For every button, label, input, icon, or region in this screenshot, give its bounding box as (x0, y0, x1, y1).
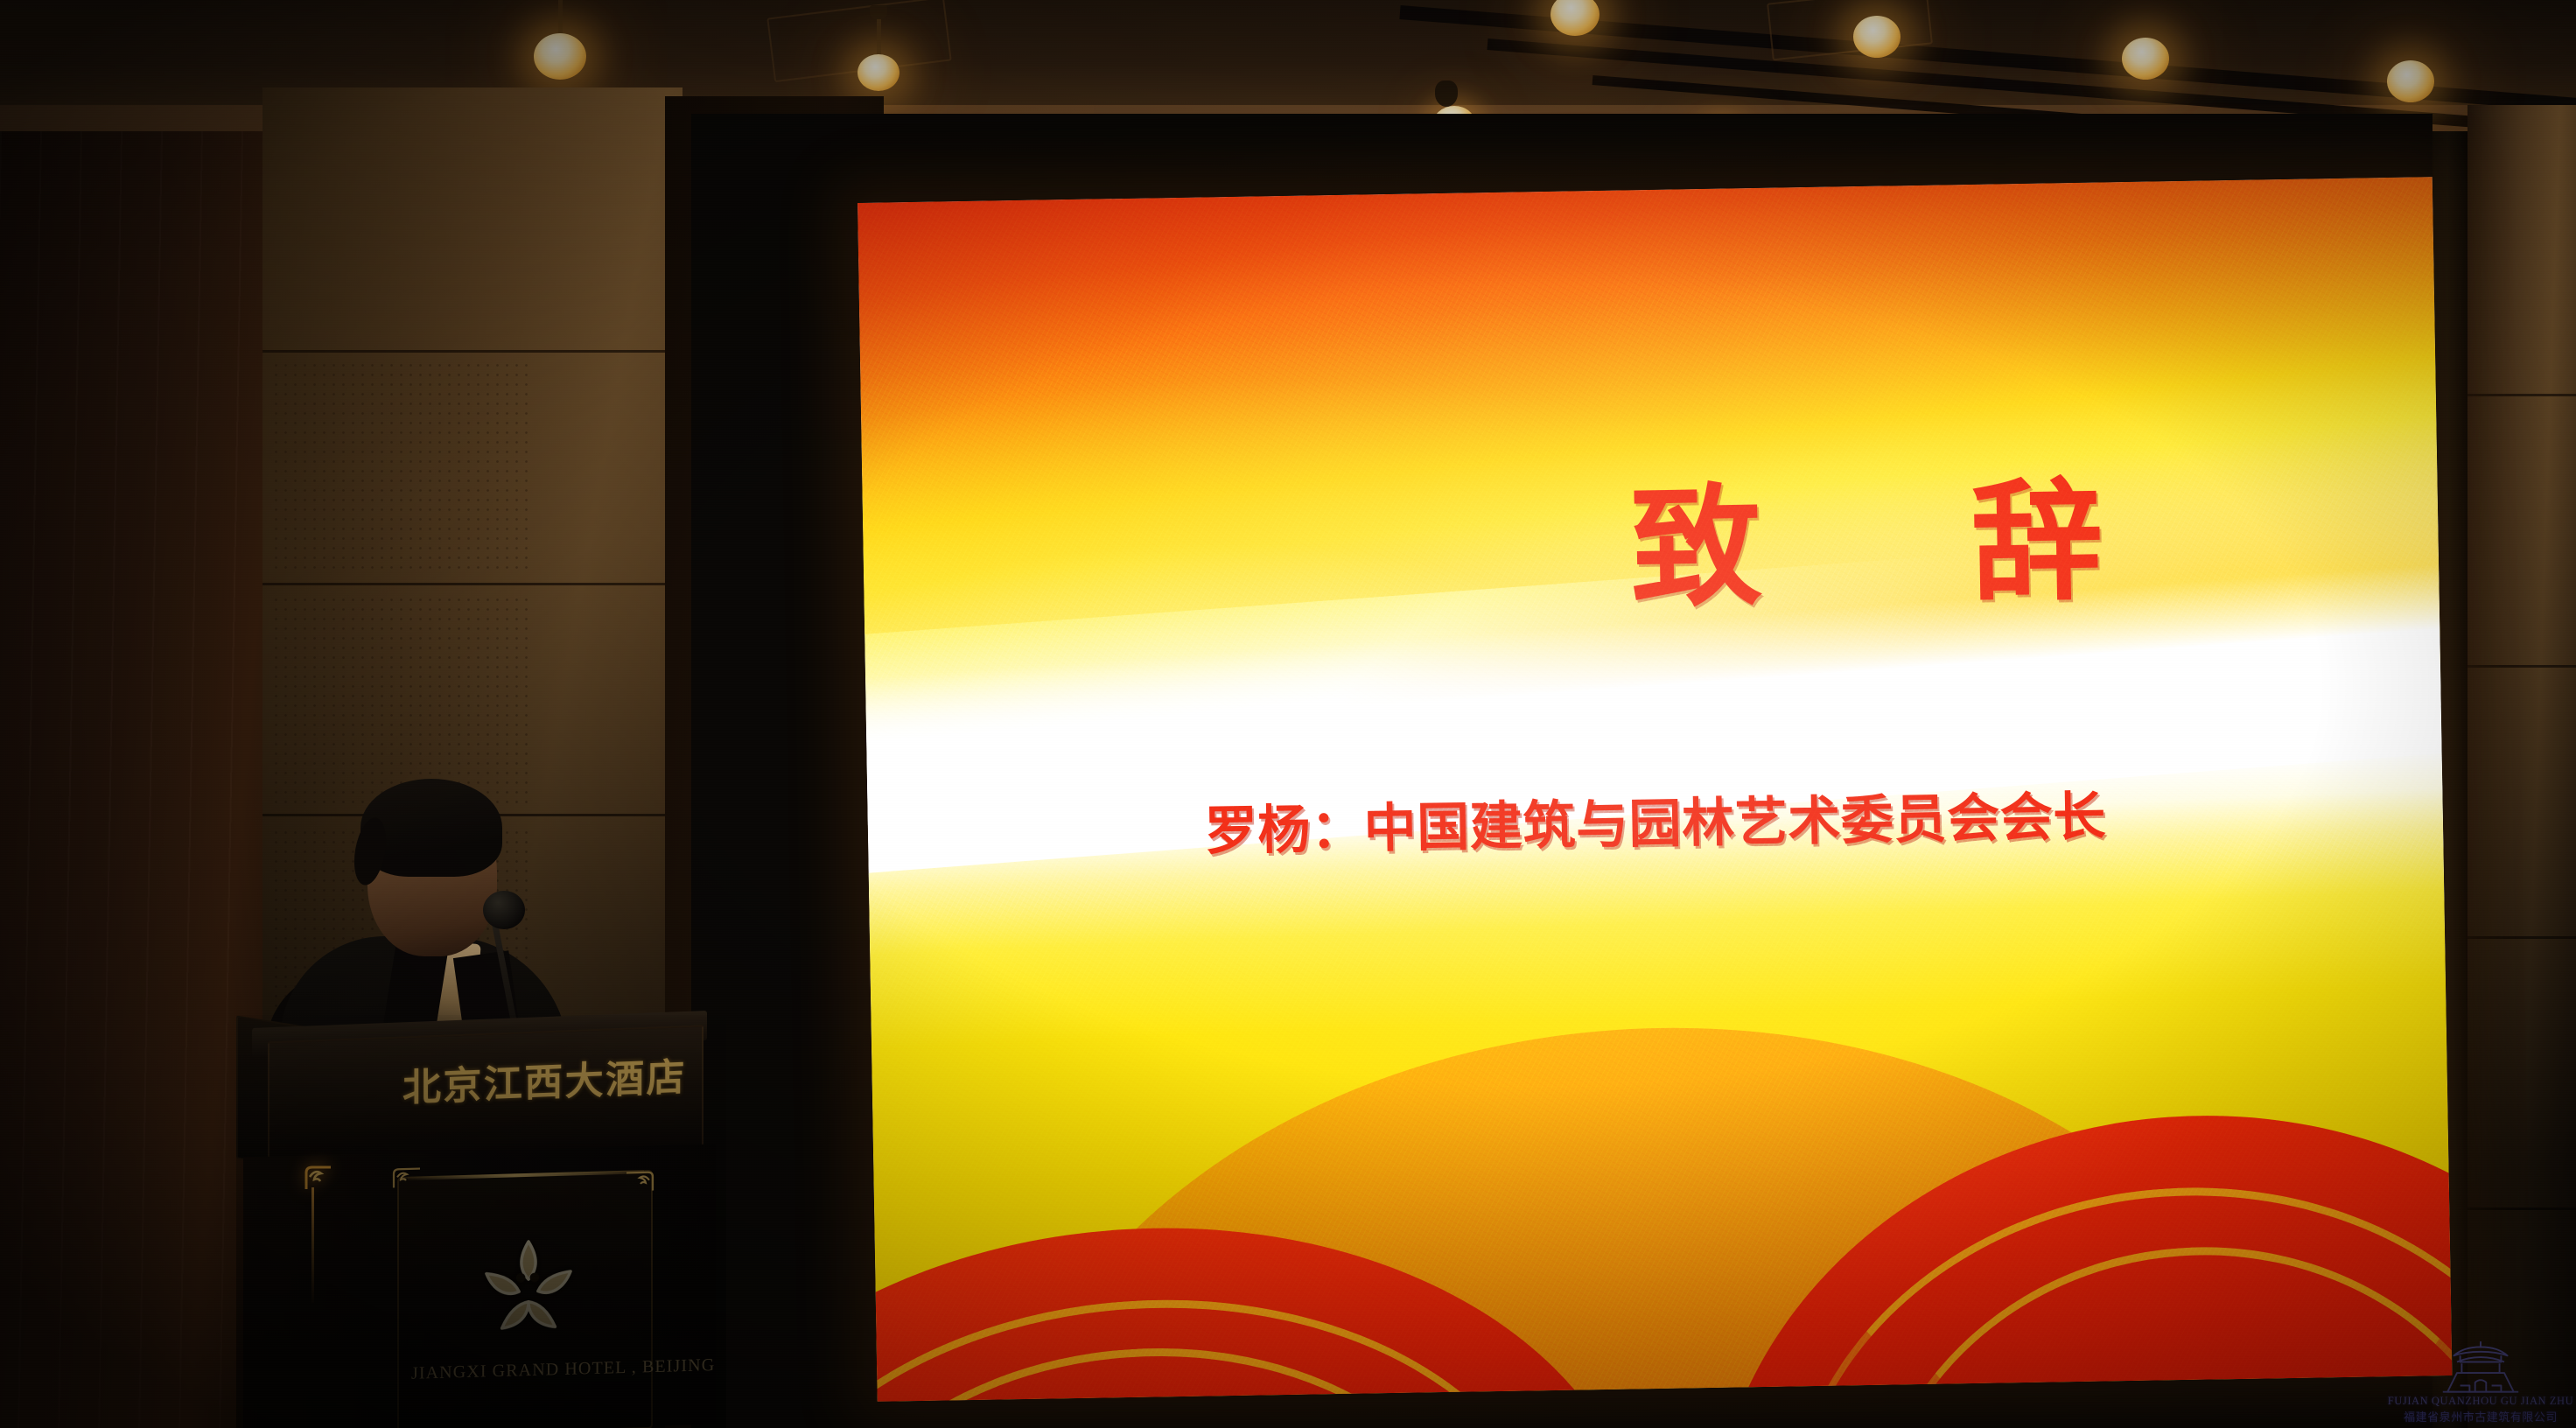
ceiling-downlight (1853, 16, 1900, 58)
wall-perforation-block (271, 360, 534, 569)
speaker-hair (360, 779, 502, 877)
podium-flame-ornament (303, 1165, 332, 1191)
pendant-light-stem (877, 14, 881, 54)
five-petal-flower-icon (481, 1236, 576, 1335)
slide-title: 致 辞 (1629, 475, 2143, 615)
wall-panel-seam (262, 583, 682, 585)
podium-corner-ornament-left (392, 1166, 422, 1190)
left-wall-dark (0, 131, 271, 1428)
podium-light-streak (311, 1187, 314, 1303)
podium-hotel-name: 北京江西大酒店 (402, 1046, 691, 1113)
podium-corner-ornament-right (625, 1170, 654, 1193)
podium: 北京江西大酒店 (252, 1019, 707, 1428)
microphone-icon (483, 891, 525, 929)
presentation-slide: 致 辞 罗杨：中国建筑与园林艺术委员会会长 (857, 177, 2452, 1402)
pendant-light-cap (870, 5, 887, 19)
pendant-light-stem (558, 0, 563, 33)
pendant-light-bulb (534, 33, 586, 80)
right-wall-shadow (2467, 105, 2576, 1428)
ceiling-downlight (2387, 60, 2434, 102)
ceiling-downlight (2122, 38, 2169, 80)
pendant-light-bulb (857, 54, 899, 91)
scene-root: 致 辞 罗杨：中国建筑与园林艺术委员会会长 北京江西大酒店 (0, 0, 2576, 1428)
wall-panel-seam (262, 350, 682, 353)
ceiling-fitting (1435, 80, 1458, 107)
led-screen[interactable]: 致 辞 罗杨：中国建筑与园林艺术委员会会长 (857, 177, 2452, 1402)
